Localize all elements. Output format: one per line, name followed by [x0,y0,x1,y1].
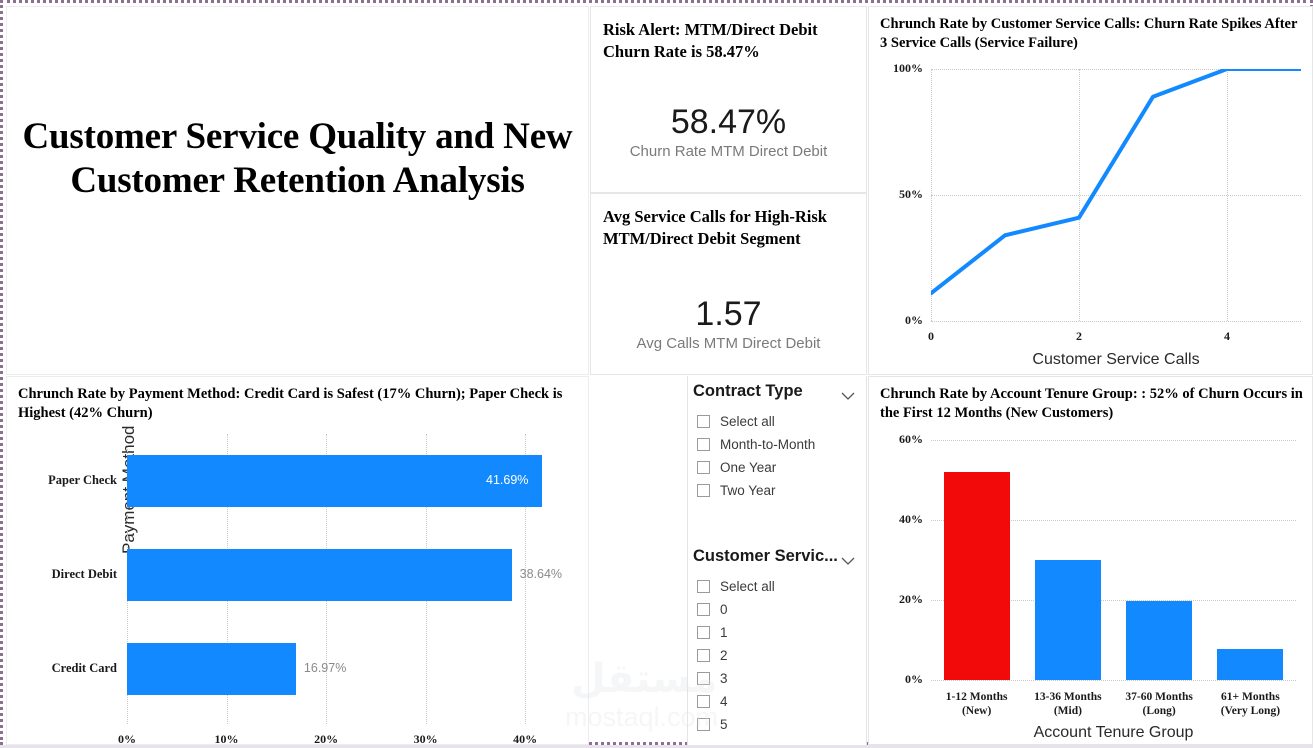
table-row[interactable] [944,472,1010,680]
slicer-option-label: 0 [720,602,728,617]
category-label: Direct Debit [17,567,117,582]
slicer-option-0[interactable]: Select all [697,575,863,598]
checkbox-icon[interactable] [697,603,710,616]
slicer-option-3[interactable]: Two Year [697,479,863,502]
x-axis-tick: 30% [406,732,446,745]
category-label: 13-36 Months(Mid) [1016,690,1119,718]
divider [866,376,867,745]
category-label: 1-12 Months(New) [925,690,1028,718]
slicer-option-label: Two Year [720,483,776,498]
chart-card-tenure-group: Chrunch Rate by Account Tenure Group: : … [868,376,1313,745]
checkbox-icon[interactable] [697,415,710,428]
table-row[interactable] [127,643,296,695]
x-axis-tick: 0 [917,329,945,344]
checkbox-icon[interactable] [697,718,710,731]
kpi-card-churn-rate: Risk Alert: MTM/Direct Debit Churn Rate … [590,6,867,193]
table-row[interactable] [1035,560,1101,680]
slicer-option-6[interactable]: 5 [697,713,863,736]
kpi-title: Risk Alert: MTM/Direct Debit Churn Rate … [603,19,856,63]
chart-title: Chrunch Rate by Payment Method: Credit C… [18,385,580,423]
slicer-option-label: 2 [720,648,728,663]
slicer-option-label: 1 [720,625,728,640]
slicer-option-1[interactable]: 0 [697,598,863,621]
y-axis-tick: 60% [875,432,923,447]
chart-card-service-calls: Chrunch Rate by Customer Service Calls: … [868,6,1313,375]
kpi-subtitle: Avg Calls MTM Direct Debit [591,335,866,352]
checkbox-icon[interactable] [697,484,710,497]
slicer-option-label: One Year [720,460,776,475]
kpi-title: Avg Service Calls for High-Risk MTM/Dire… [603,206,856,250]
table-row[interactable] [1217,649,1283,680]
category-label: 61+ Months(Very Long) [1199,690,1302,718]
chart-title: Chrunch Rate by Account Tenure Group: : … [880,385,1304,423]
x-axis-tick: 0% [107,732,147,745]
kpi-value: 1.57 [591,295,866,334]
slicer-options-list: Select all012345 [697,575,863,736]
category-label: Paper Check [17,473,117,488]
y-axis-tick: 20% [875,592,923,607]
line-chart-plot-area: 0%50%100%024 [931,69,1301,321]
y-gridline [931,440,1296,441]
data-label: 41.69% [486,473,528,487]
checkbox-icon[interactable] [697,438,710,451]
checkbox-icon[interactable] [697,649,710,662]
y-axis-tick: 0% [873,313,923,328]
slicer-option-5[interactable]: 4 [697,690,863,713]
slicer-option-label: Select all [720,414,775,429]
slicer-option-label: Select all [720,579,775,594]
y-axis-tick: 100% [873,61,923,76]
slicer-option-label: 3 [720,671,728,686]
checkbox-icon[interactable] [697,672,710,685]
slicer-option-label: 5 [720,717,728,732]
slicer-options-list: Select allMonth-to-MonthOne YearTwo Year [697,410,863,502]
checkbox-icon[interactable] [697,695,710,708]
kpi-value: 58.47% [591,103,866,142]
slicer-option-3[interactable]: 2 [697,644,863,667]
slicer-option-1[interactable]: Month-to-Month [697,433,863,456]
data-label: 38.64% [520,567,562,581]
table-row[interactable] [127,549,512,601]
bar-chart-plot-area: Payment Method 0%10%20%30%40%Paper Check… [127,434,565,716]
page-title: Customer Service Quality and New Custome… [7,115,588,203]
slicer-header: Contract Type [693,382,803,401]
checkbox-icon[interactable] [697,461,710,474]
slicer-header: Customer Servic... [693,547,838,566]
dashboard-canvas: Customer Service Quality and New Custome… [0,0,1313,745]
slicer-option-2[interactable]: One Year [697,456,863,479]
slicer-contract-type[interactable]: Contract Type Select allMonth-to-MonthOn… [689,376,867,541]
table-row[interactable] [1126,601,1192,680]
line-series [931,69,1301,321]
y-gridline [931,321,1301,322]
y-axis-tick: 40% [875,512,923,527]
column-chart-plot-area: 0%20%40%60%1-12 Months(New)13-36 Months(… [931,440,1296,680]
y-gridline [931,680,1296,681]
x-axis-tick: 20% [306,732,346,745]
slicer-option-label: 4 [720,694,728,709]
x-axis-tick: 2 [1065,329,1093,344]
y-axis-tick: 0% [875,672,923,687]
slicer-customer-service-calls[interactable]: Customer Servic... Select all012345 [689,541,867,745]
slicer-option-2[interactable]: 1 [697,621,863,644]
divider [687,376,688,745]
chevron-down-icon[interactable] [841,553,855,562]
slicer-option-4[interactable]: 3 [697,667,863,690]
x-axis-title: Account Tenure Group [931,724,1296,742]
x-axis-tick: 40% [505,732,545,745]
checkbox-icon[interactable] [697,626,710,639]
chart-title: Chrunch Rate by Customer Service Calls: … [880,15,1304,53]
x-axis-tick: 4 [1213,329,1241,344]
table-row[interactable] [127,455,542,507]
kpi-card-avg-service-calls: Avg Service Calls for High-Risk MTM/Dire… [590,193,867,375]
slicer-option-0[interactable]: Select all [697,410,863,433]
slicer-option-label: Month-to-Month [720,437,815,452]
kpi-subtitle: Churn Rate MTM Direct Debit [591,143,866,160]
data-label: 16.97% [304,661,346,675]
x-axis-title: Customer Service Calls [931,351,1301,369]
chevron-down-icon[interactable] [841,388,855,397]
x-axis-tick: 10% [207,732,247,745]
category-label: 37-60 Months(Long) [1108,690,1211,718]
y-axis-tick: 50% [873,187,923,202]
checkbox-icon[interactable] [697,580,710,593]
report-title-card: Customer Service Quality and New Custome… [6,6,589,375]
chart-card-payment-method: Chrunch Rate by Payment Method: Credit C… [6,376,589,745]
category-label: Credit Card [17,661,117,676]
